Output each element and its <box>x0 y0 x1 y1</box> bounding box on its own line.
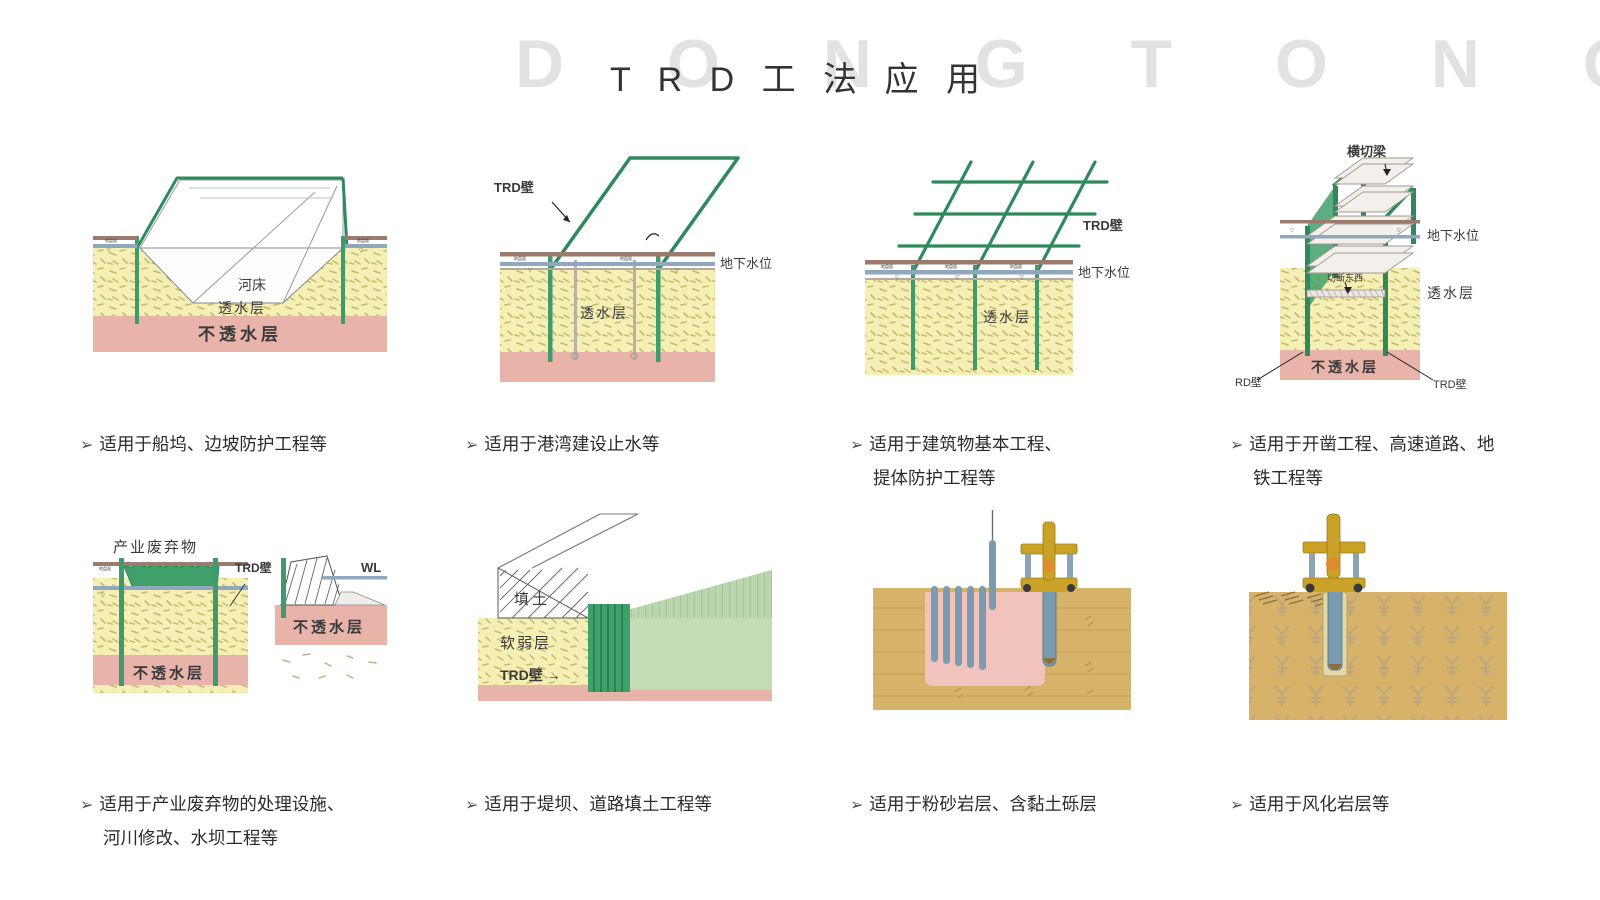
figure-label-impermeable: 不透水层 <box>1311 359 1379 375</box>
figure-label-fill-soil: 填土 <box>514 591 550 608</box>
svg-text:▽: ▽ <box>1290 228 1294 234</box>
panel-weathered-rock: ➢适用于风化岩层等 <box>1225 500 1600 860</box>
caption-line-2: 铁工程等 <box>1253 462 1600 495</box>
svg-text:▽: ▽ <box>528 268 532 274</box>
caption-industrial-waste-facility: ➢适用于产业废弃物的处理设施、 河川修改、水坝工程等 <box>80 788 450 855</box>
panel-dock-slope-protection: 地盘面 ▽ 地盘面 ▽ 河床 透水层 不透水层 ➢适用于船坞、边坡防护工程等 <box>75 140 460 500</box>
figure-label-permeable: 透水层 <box>983 309 1031 325</box>
figure-dam-road-fill: 填土 软弱层 TRD壁 → <box>470 500 780 750</box>
caption-harbor-water-cutoff: ➢适用于港湾建设止水等 <box>465 428 835 462</box>
caption-building-foundation: ➢适用于建筑物基本工程、 提体防护工程等 <box>850 428 1220 495</box>
figure-building-foundation: 地盘面 ▽ 地盘面 ▽ 地盘面 ▽ TRD壁 地下水位 透水层 <box>855 140 1165 390</box>
figure-label-riverbed: 河床 <box>238 277 266 293</box>
svg-text:▽: ▽ <box>101 593 105 599</box>
panel-industrial-waste-facility: 地盘面 ▽ TRD壁 产业废弃物 不透水层 <box>75 500 460 860</box>
panel-excavation-highway-subway: ▽ ▽ 横切梁 地下水位 切断东西 透水层 不透水层 RD壁 T <box>1225 140 1600 500</box>
panel-grid: 地盘面 ▽ 地盘面 ▽ 河床 透水层 不透水层 ➢适用于船坞、边坡防护工程等 <box>0 140 1600 860</box>
figure-label-trd-wall: TRD壁 <box>1433 377 1467 390</box>
page-title: T R D 工 法 应 用 <box>610 63 989 97</box>
figure-silty-sand-rock-clay-gravel <box>855 500 1165 750</box>
figure-label-trd-wall: TRD壁 → <box>500 667 561 683</box>
figure-excavation-highway-subway: ▽ ▽ 横切梁 地下水位 切断东西 透水层 不透水层 RD壁 T <box>1235 140 1545 390</box>
caption-dock-slope-protection: ➢适用于船坞、边坡防护工程等 <box>80 428 450 462</box>
svg-text:地盘面: 地盘面 <box>945 263 957 269</box>
page-header: D O N G T O N G T R D 工 法 应 用 <box>0 0 1600 140</box>
caption-line-1: 适用于粉砂岩层、含黏土砾层 <box>869 794 1097 814</box>
figure-label-soft-layer: 软弱层 <box>500 635 551 652</box>
svg-text:▽: ▽ <box>1020 275 1024 281</box>
caption-line-1: 适用于船坞、边坡防护工程等 <box>99 434 327 454</box>
caption-dam-road-fill: ➢适用于堤坝、道路填土工程等 <box>465 788 835 822</box>
svg-text:▽: ▽ <box>1397 228 1401 234</box>
figure-label-permeable: 透水层 <box>580 305 628 321</box>
caption-weathered-rock: ➢适用于风化岩层等 <box>1230 788 1600 822</box>
svg-text:地盘面: 地盘面 <box>881 263 893 269</box>
bullet-icon: ➢ <box>850 797 863 814</box>
panel-dam-road-fill: 填土 软弱层 TRD壁 → ➢适用于堤坝、道路填土工程等 <box>460 500 845 860</box>
figure-label-groundwater: 地下水位 <box>720 256 772 271</box>
svg-text:▽: ▽ <box>359 248 363 254</box>
caption-line-1: 适用于风化岩层等 <box>1249 794 1389 814</box>
caption-silty-sand-rock-clay-gravel: ➢适用于粉砂岩层、含黏土砾层 <box>850 788 1220 822</box>
svg-text:▽: ▽ <box>107 248 111 254</box>
figure-label-impermeable-right: 不透水层 <box>293 618 365 636</box>
figure-label-cut-section: 切断东西 <box>1327 272 1363 283</box>
panel-row-2: 地盘面 ▽ TRD壁 产业废弃物 不透水层 <box>0 500 1600 860</box>
figure-label-permeable: 透水层 <box>218 300 266 316</box>
figure-label-trd-wall: TRD壁 <box>1083 218 1123 233</box>
panel-row-1: 地盘面 ▽ 地盘面 ▽ 河床 透水层 不透水层 ➢适用于船坞、边坡防护工程等 <box>0 140 1600 500</box>
bullet-icon: ➢ <box>80 437 93 454</box>
figure-label-groundwater: 地下水位 <box>1427 228 1479 243</box>
figure-label-impermeable: 不透水层 <box>198 324 282 344</box>
caption-excavation-highway-subway: ➢适用于开凿工程、高速道路、地 铁工程等 <box>1230 428 1600 495</box>
svg-text:地盘面: 地盘面 <box>620 255 632 261</box>
figure-dock-slope-protection: 地盘面 ▽ 地盘面 ▽ 河床 透水层 不透水层 <box>85 140 395 390</box>
figure-weathered-rock <box>1235 500 1545 750</box>
svg-text:▽: ▽ <box>955 275 959 281</box>
svg-text:地盘面: 地盘面 <box>99 565 111 571</box>
figure-label-permeable: 透水层 <box>1427 285 1475 301</box>
panel-building-foundation: 地盘面 ▽ 地盘面 ▽ 地盘面 ▽ TRD壁 地下水位 透水层 ➢适用于建筑物基… <box>845 140 1230 500</box>
bullet-icon: ➢ <box>80 797 93 814</box>
svg-text:地盘面: 地盘面 <box>1010 263 1022 269</box>
svg-text:地盘面: 地盘面 <box>105 237 117 243</box>
caption-line-2: 提体防护工程等 <box>873 462 1220 495</box>
bullet-icon: ➢ <box>1230 797 1243 814</box>
caption-line-2: 河川修改、水坝工程等 <box>103 822 450 855</box>
caption-line-1: 适用于开凿工程、高速道路、地 <box>1249 434 1494 454</box>
caption-line-1: 适用于港湾建设止水等 <box>484 434 659 454</box>
figure-label-trd-wall: TRD壁 <box>494 180 534 195</box>
figure-label-wl: WL <box>361 560 381 575</box>
panel-silty-sand-rock-clay-gravel: ➢适用于粉砂岩层、含黏土砾层 <box>845 500 1230 860</box>
figure-label-impermeable-left: 不透水层 <box>133 664 205 682</box>
svg-text:▽: ▽ <box>675 268 679 274</box>
caption-line-1: 适用于建筑物基本工程、 <box>869 434 1062 454</box>
panel-harbor-water-cutoff: 地盘面 ▽ 地盘面 ▽ TRD壁 地下水位 透水层 ➢适用于港湾建设止水等 <box>460 140 845 500</box>
bullet-icon: ➢ <box>850 437 863 454</box>
figure-label-trd-wall: TRD壁 <box>235 560 272 575</box>
figure-industrial-waste-facility: 地盘面 ▽ TRD壁 产业废弃物 不透水层 <box>85 500 395 750</box>
caption-line-1: 适用于产业废弃物的处理设施、 <box>99 794 344 814</box>
caption-line-1: 适用于堤坝、道路填土工程等 <box>484 794 712 814</box>
figure-label-rd-wall: RD壁 <box>1235 375 1262 389</box>
figure-harbor-water-cutoff: 地盘面 ▽ 地盘面 ▽ TRD壁 地下水位 透水层 <box>470 140 780 390</box>
figure-label-groundwater: 地下水位 <box>1078 265 1130 280</box>
svg-text:地盘面: 地盘面 <box>514 255 526 261</box>
bullet-icon: ➢ <box>465 437 478 454</box>
figure-label-industrial-waste: 产业废弃物 <box>113 539 198 556</box>
bullet-icon: ➢ <box>465 797 478 814</box>
svg-text:▽: ▽ <box>895 275 899 281</box>
figure-label-cross-beam: 横切梁 <box>1347 144 1387 159</box>
bullet-icon: ➢ <box>1230 437 1243 454</box>
svg-text:地盘面: 地盘面 <box>357 237 369 243</box>
